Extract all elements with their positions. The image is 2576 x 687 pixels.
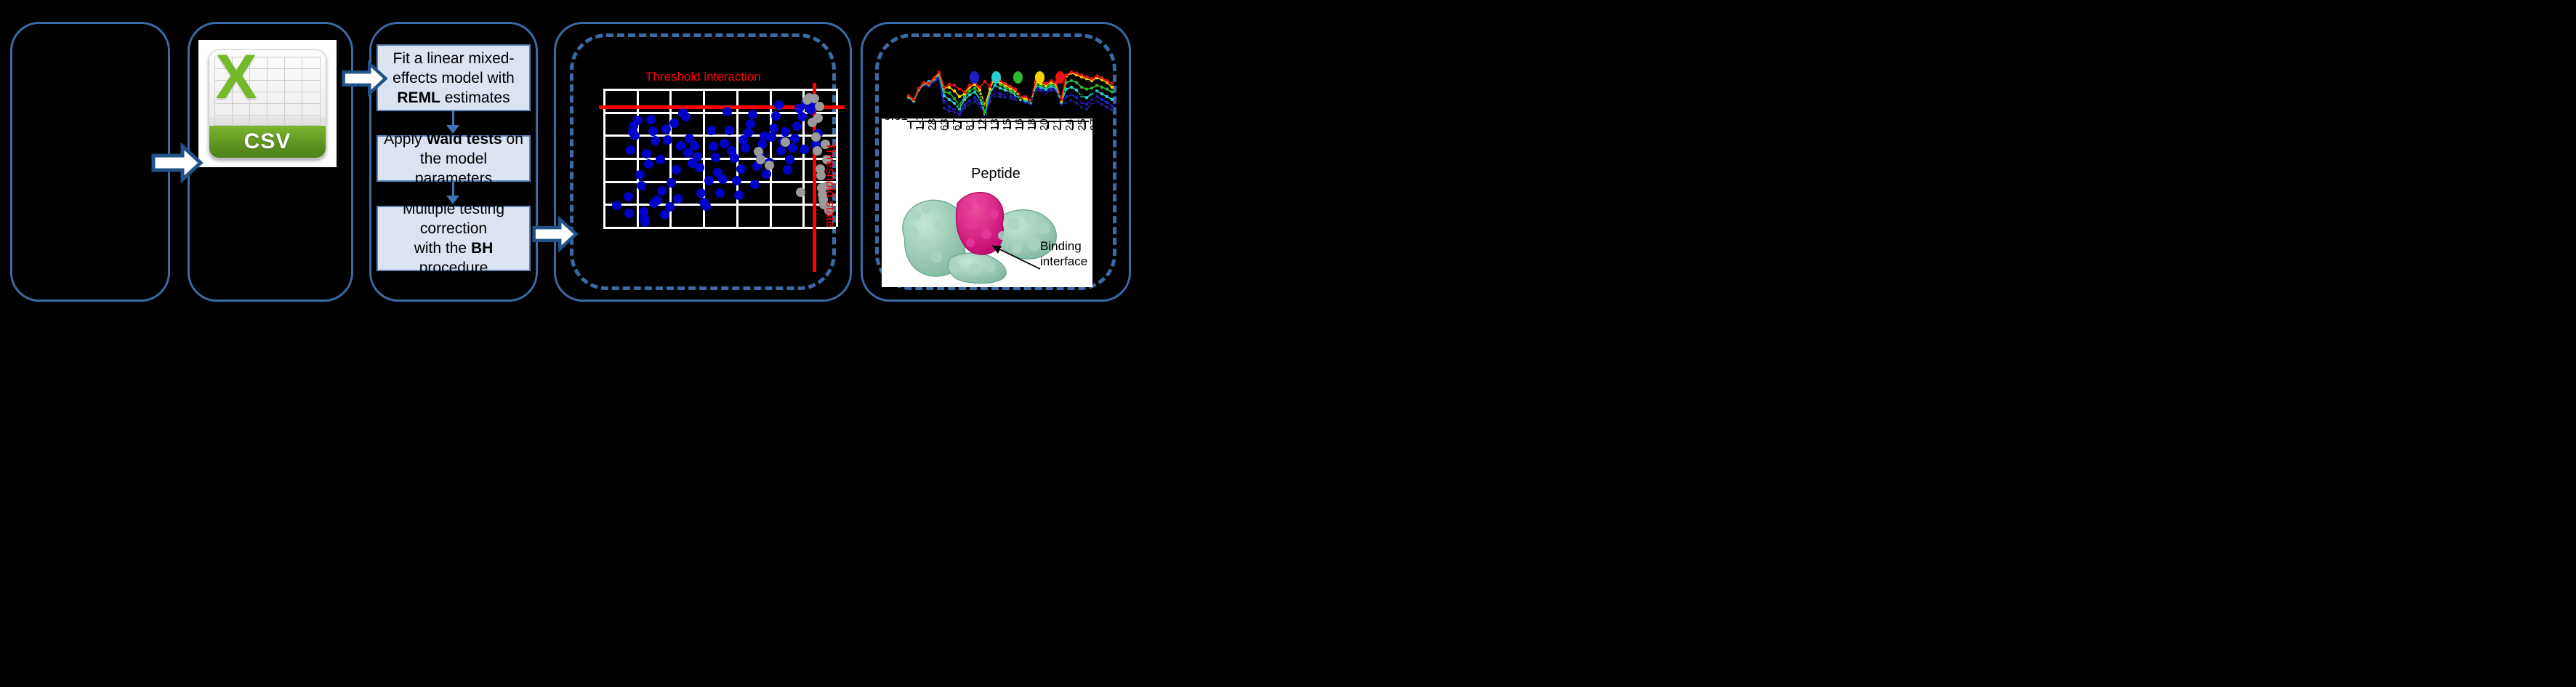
x-tick: [973, 122, 974, 129]
csv-icon-body: X CSV: [209, 49, 326, 158]
csv-label: CSV: [209, 126, 326, 158]
line-marker: [933, 76, 935, 79]
scatter-point: [681, 112, 691, 121]
scatter-point: [781, 137, 790, 147]
scatter-point: [637, 181, 646, 190]
scatter-point: [667, 178, 676, 188]
x-tick: [1084, 122, 1086, 129]
fit-model-line3b: estimates: [440, 89, 510, 106]
line-marker: [1045, 82, 1047, 85]
scatter-point: [648, 126, 658, 136]
bh-line2: correction: [420, 220, 487, 237]
scatter-point: [690, 141, 699, 150]
x-tick: [1060, 122, 1061, 129]
wald-tests-box[interactable]: Apply Wald tests on the model parameters: [377, 135, 531, 182]
line-marker: [907, 95, 910, 97]
scatter-point: [707, 126, 716, 135]
scatter-point: [704, 176, 714, 185]
scatter-point: [635, 170, 645, 180]
scatter-point: [741, 143, 750, 153]
line-marker: [953, 97, 956, 100]
wald-line1c: on: [502, 131, 523, 148]
x-tick-label: 258-266: [1076, 91, 1088, 131]
line-marker: [917, 87, 920, 89]
fit-model-line1: Fit a linear mixed-: [393, 50, 515, 67]
x-tick: [1010, 122, 1011, 129]
arrow-wald-to-bh-line: [452, 182, 454, 197]
x-tick-label: 28-44: [926, 103, 938, 131]
line-marker: [1106, 105, 1108, 108]
fit-model-box[interactable]: Fit a linear mixed- effects model with R…: [377, 44, 531, 111]
scatter-point: [661, 124, 671, 134]
scatter-point: [744, 128, 753, 137]
scatter-point: [653, 196, 662, 205]
line-marker: [1100, 103, 1103, 105]
arrow-panel3-to-panel4: [532, 215, 579, 253]
scatter-point: [792, 121, 802, 131]
scatter-point: [750, 180, 760, 189]
scatter-point: [769, 124, 778, 133]
scatter-gridline-h: [603, 227, 836, 229]
scatter-point: [790, 134, 800, 143]
wald-emphasis: Wald tests: [426, 131, 502, 148]
line-marker: [1100, 86, 1103, 89]
scatter-point: [665, 202, 675, 212]
line-marker: [1070, 86, 1073, 89]
line-marker: [1100, 92, 1103, 95]
line-marker: [1106, 95, 1108, 98]
x-tick: [1047, 122, 1049, 129]
line-marker: [1111, 86, 1114, 89]
line-marker: [1080, 73, 1083, 76]
scatter-point: [774, 100, 784, 110]
reml-emphasis: REML: [397, 89, 440, 106]
wald-line1a: Apply: [384, 131, 426, 148]
scatter-point: [711, 153, 720, 162]
protein-structure-image: Binding interface: [882, 182, 1092, 287]
scatter-point: [709, 142, 718, 151]
scatter-point: [762, 169, 771, 179]
scatter-point: [701, 201, 711, 211]
line-marker: [1080, 86, 1083, 89]
line-marker: [927, 82, 930, 85]
scatter-point: [633, 116, 643, 125]
line-marker: [963, 90, 966, 93]
scatter-point: [756, 155, 765, 164]
x-tick-label: 1-15: [914, 109, 926, 131]
line-marker: [1100, 76, 1103, 79]
legend-dot-t4: [1035, 71, 1045, 84]
line-marker: [999, 87, 1002, 89]
scatter-title-threshold-interaction: Threshold interaction: [645, 70, 761, 84]
scatter-point: [723, 107, 732, 116]
x-tick: [985, 122, 986, 129]
scatter-point: [683, 148, 693, 158]
line-marker: [943, 86, 946, 89]
line-marker: [1090, 77, 1093, 80]
line-marker: [1106, 101, 1108, 104]
x-tick-label: 167-180: [1013, 91, 1026, 131]
line-marker: [948, 98, 951, 101]
line-marker: [978, 86, 981, 89]
scatter-point: [771, 111, 781, 121]
x-tick-label: 200-214: [1038, 91, 1050, 131]
scatter-point: [651, 136, 660, 145]
line-marker: [948, 92, 951, 95]
line-marker: [1111, 98, 1114, 101]
x-tick-label: 158-166: [1001, 91, 1013, 131]
line-marker: [968, 93, 971, 96]
scatter-label-threshold-state: Threshold state: [823, 142, 837, 228]
line-marker: [1111, 108, 1114, 111]
line-marker: [1090, 87, 1093, 89]
scatter-gridline-v: [603, 89, 605, 227]
line-marker: [1075, 71, 1078, 74]
line-marker: [943, 90, 946, 93]
scatter-point: [797, 112, 807, 121]
scatter-point: [765, 161, 774, 170]
line-marker: [1004, 82, 1007, 85]
scatter-point: [800, 145, 809, 154]
line-marker: [943, 95, 946, 97]
scatter-plot: [603, 89, 836, 227]
line-marker: [1070, 79, 1073, 82]
line-marker: [1100, 98, 1103, 101]
line-marker: [1050, 79, 1052, 82]
x-tick: [1034, 122, 1036, 129]
legend-dot-t5: [1055, 71, 1065, 84]
line-marker: [948, 83, 951, 86]
x-axis-title-peptide: Peptide: [945, 166, 1047, 182]
line-marker: [953, 84, 956, 87]
line-marker: [1095, 84, 1098, 87]
scatter-point: [612, 201, 621, 210]
arrow-fitmodel-to-wald-head: [446, 125, 459, 134]
x-tick-label: 241-257: [1063, 91, 1076, 131]
empty-panel: [10, 22, 170, 302]
line-marker: [1085, 76, 1088, 79]
scatter-point: [673, 194, 683, 204]
line-marker: [1111, 82, 1114, 85]
arrow-panel2-to-panel3: [342, 60, 388, 97]
line-marker: [958, 95, 961, 98]
line-marker: [973, 87, 976, 89]
scatter-point: [626, 145, 635, 155]
x-tick: [910, 122, 911, 129]
bh-line3c: procedure: [419, 260, 488, 276]
line-marker: [1106, 79, 1108, 82]
scatter-point: [676, 141, 685, 150]
scatter-point: [624, 209, 634, 218]
protein-surface-svg: [882, 182, 1092, 287]
x-tick-label: 81-101: [964, 97, 976, 131]
scatter-point: [646, 115, 656, 124]
fit-model-line2: effects model with: [393, 70, 515, 87]
line-marker: [1070, 71, 1073, 73]
scatter-gridline-v: [637, 89, 639, 227]
scatter-point: [748, 110, 757, 119]
scatter-point: [656, 155, 665, 164]
x-tick: [960, 122, 962, 129]
excel-x-icon: X: [213, 52, 259, 104]
bh-line3a: with the: [414, 240, 471, 257]
x-tick: [1072, 122, 1074, 129]
x-tick-label: 218-237: [1051, 91, 1063, 131]
line-marker: [1009, 85, 1012, 88]
scatter-point: [813, 146, 822, 156]
line-marker: [968, 84, 971, 87]
scatter-point: [746, 119, 755, 129]
line-marker: [1095, 74, 1098, 77]
scatter-point: [640, 217, 650, 227]
line-marker: [1106, 87, 1108, 90]
bh-correction-box[interactable]: Multiple testing correction with the BH …: [377, 206, 531, 271]
scatter-point: [796, 188, 805, 197]
line-marker: [922, 81, 925, 84]
scatter-point: [730, 153, 739, 163]
x-tick-label: 184-199: [1026, 91, 1038, 131]
line-marker: [968, 89, 971, 92]
line-marker: [948, 86, 951, 89]
scatter-point: [734, 190, 744, 200]
arrow-fitmodel-to-wald-line: [452, 111, 454, 126]
scatter-point: [672, 165, 681, 174]
x-tick-label: 122-129: [976, 91, 989, 131]
scatter-point: [624, 192, 633, 201]
line-marker: [953, 89, 956, 92]
scatter-point: [660, 210, 669, 220]
legend-dot-t1: [970, 71, 979, 84]
scatter-point: [783, 165, 792, 174]
scatter-point: [669, 118, 679, 128]
x-tick-label: 277-284: [1088, 91, 1100, 131]
line-marker: [994, 84, 997, 87]
y-axis-tick-label: 0.01: [884, 109, 908, 124]
x-tick-label: 67-75: [951, 103, 963, 131]
scatter-point: [715, 188, 725, 198]
x-tick: [935, 122, 936, 129]
x-tick-label: 135-144: [989, 91, 1001, 131]
scatter-point: [767, 132, 776, 142]
binding-caption-line2: interface: [1040, 254, 1087, 268]
line-marker: [912, 98, 915, 101]
x-tick: [1022, 122, 1023, 129]
line-marker: [989, 85, 991, 88]
line-marker: [958, 87, 961, 90]
line-marker: [983, 80, 986, 83]
scatter-point: [815, 102, 824, 111]
x-tick: [922, 122, 924, 129]
line-marker: [1075, 81, 1078, 84]
line-marker: [1111, 105, 1114, 108]
binding-interface-caption: Binding interface: [1040, 238, 1087, 269]
scatter-point: [657, 186, 667, 196]
scatter-point: [785, 155, 794, 164]
scatter-point: [732, 176, 741, 185]
scatter-point: [811, 132, 821, 142]
line-marker: [1111, 90, 1114, 93]
line-marker: [938, 71, 941, 73]
scatter-point: [644, 159, 653, 169]
binding-caption-line1: Binding: [1040, 239, 1082, 253]
legend-dot-t3: [1013, 71, 1023, 84]
scatter-point: [736, 164, 746, 174]
scatter-point: [776, 146, 786, 156]
bh-emphasis: BH: [471, 240, 493, 257]
x-tick: [997, 122, 999, 129]
wald-line2: the model parameters: [415, 150, 492, 187]
line-marker: [1065, 73, 1068, 76]
scatter-point: [813, 113, 823, 123]
legend-dot-t2: [991, 71, 1001, 84]
scatter-point: [630, 131, 640, 140]
arrow-panel1-to-panel2: [151, 142, 204, 183]
csv-file-icon: X CSV: [198, 40, 337, 167]
arrow-wald-to-bh-head: [446, 196, 459, 204]
x-tick-label: 63-73: [938, 103, 951, 131]
scatter-point: [693, 152, 702, 161]
x-tick: [947, 122, 949, 129]
